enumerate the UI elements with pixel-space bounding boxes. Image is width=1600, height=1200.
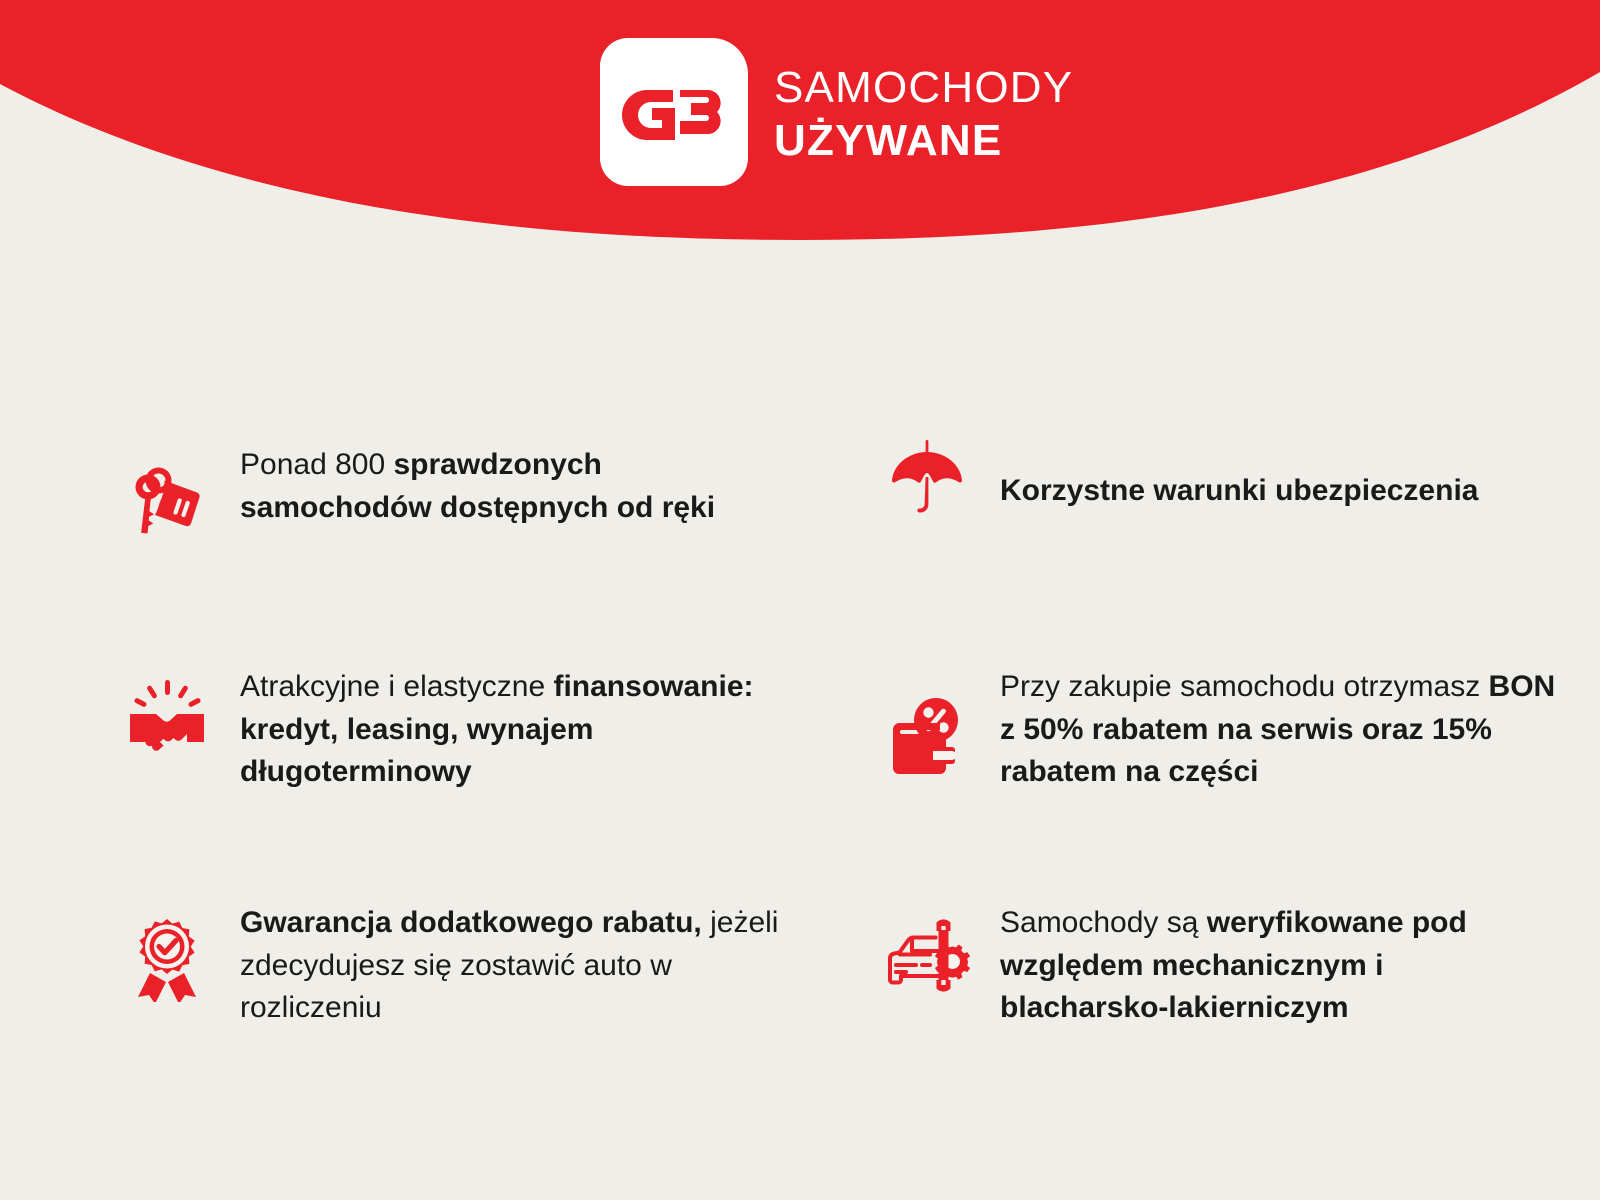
brand-line-2: UŻYWANE [774, 119, 1073, 163]
award-badge-check-icon [120, 912, 214, 1006]
brand-wordmark: SAMOCHODY UŻYWANE [774, 62, 1073, 163]
feature-list: Ponad 800 sprawdzonych samochodów dostęp… [0, 440, 1600, 1078]
feature-text: Przy zakupie samochodu otrzymasz BON z 5… [1000, 662, 1560, 794]
car-wrench-gear-icon [880, 908, 974, 1002]
feature-text-regular: Przy zakupie samochodu otrzymasz [1000, 670, 1489, 703]
brand-logo-block[interactable]: SAMOCHODY UŻYWANE [600, 38, 1073, 186]
gb-logo-icon [600, 38, 748, 186]
feature-text: Atrakcyjne i elastyczne finansowanie: kr… [240, 662, 800, 794]
feature-text-bold: Korzystne warunki ubezpieczenia [1000, 474, 1478, 507]
feature-item-extra-discount-guarantee: Gwarancja dodatkowego rabatu, jeżeli zde… [120, 898, 840, 1078]
brand-line-1: SAMOCHODY [774, 66, 1073, 110]
feature-text: Korzystne warunki ubezpieczenia [1000, 440, 1478, 513]
feature-text: Ponad 800 sprawdzonych samochodów dostęp… [240, 440, 800, 529]
feature-item-cars-available: Ponad 800 sprawdzonych samochodów dostęp… [120, 440, 840, 620]
feature-item-vehicle-verification: Samochody są weryfikowane pod względem m… [880, 898, 1600, 1078]
feature-item-voucher-discount: Przy zakupie samochodu otrzymasz BON z 5… [880, 662, 1600, 842]
handshake-icon [120, 672, 214, 766]
feature-text-regular: Ponad 800 [240, 448, 393, 481]
feature-text-regular: Samochody są [1000, 906, 1207, 939]
wallet-percent-icon [880, 690, 974, 784]
feature-text: Gwarancja dodatkowego rabatu, jeżeli zde… [240, 898, 800, 1030]
feature-text-bold: Gwarancja dodatkowego rabatu, [240, 906, 702, 939]
feature-text: Samochody są weryfikowane pod względem m… [1000, 898, 1560, 1030]
feature-text-regular: Atrakcyjne i elastyczne [240, 670, 553, 703]
feature-item-financing: Atrakcyjne i elastyczne finansowanie: kr… [120, 662, 840, 842]
car-keys-with-tag-icon [120, 454, 214, 548]
feature-item-insurance: Korzystne warunki ubezpieczenia [880, 440, 1600, 620]
umbrella-icon [880, 432, 974, 526]
